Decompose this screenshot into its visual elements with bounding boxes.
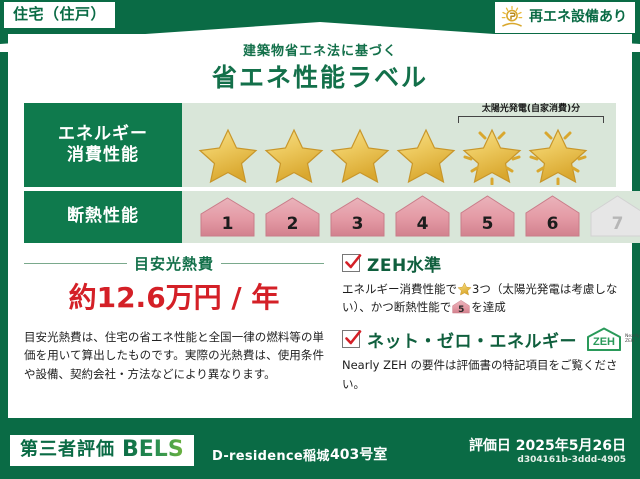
bels-logo-text: BELS — [122, 439, 184, 461]
lower-content: 目安光熱費 約12.6万円 / 年 目安光熱費は、住宅の省エネ性能と全国一律の燃… — [24, 251, 616, 419]
zeh-logo-subtext: Nearly ZEH — [625, 334, 640, 344]
utility-cost-note: 目安光熱費は、住宅の省エネ性能と全国一律の燃料等の単価を用いて算出したものです。… — [24, 328, 324, 384]
utility-cost-panel: 目安光熱費 約12.6万円 / 年 目安光熱費は、住宅の省エネ性能と全国一律の燃… — [24, 251, 330, 419]
inline-house-level: 5 — [451, 303, 471, 318]
title-block: 建築物省エネ法に基づく 省エネ性能ラベル — [10, 36, 630, 93]
house-icon-inline: 5 — [451, 299, 471, 315]
criteria-panel: ZEH水準 エネルギー消費性能で3つ（太陽光発電は考慮しない）、かつ断熱性能で5… — [330, 251, 640, 419]
energy-label-line1: エネルギー — [58, 124, 148, 145]
criterion-net-zero-energy-header: ネット・ゼロ・エネルギー ZEH Nearly ZEH — [342, 326, 640, 352]
house-icon-level-3: 3 — [326, 194, 389, 240]
energy-row-body: 太陽光発電(自家消費)分 — [182, 103, 616, 187]
building-name: D-residence稲城 — [212, 445, 330, 464]
criterion-zeh-standard: ZEH水準 エネルギー消費性能で3つ（太陽光発電は考慮しない）、かつ断熱性能で5… — [342, 251, 640, 317]
insulation-row-body: 1 2 3 4 — [182, 191, 640, 243]
energy-performance-label: 住宅（住戸） 再エネ — [0, 0, 640, 479]
star-icon — [394, 123, 458, 185]
utility-cost-value: 約12.6万円 / 年 — [24, 283, 324, 314]
check-icon — [342, 330, 360, 348]
house-icon-level-7-inactive: 7 — [586, 194, 640, 240]
divider-left — [24, 263, 127, 264]
title-main: 省エネ性能ラベル — [10, 62, 630, 93]
solar-bracket: 太陽光発電(自家消費)分 — [458, 105, 604, 123]
star-icon-solar — [460, 123, 524, 185]
solar-bracket-label: 太陽光発電(自家消費)分 — [458, 105, 604, 115]
footer-bar: 第三者評価 BELS D-residence稲城 403号室 評価日 2025年… — [0, 423, 640, 479]
desc-part1: エネルギー消費性能で — [342, 282, 457, 296]
criterion-zeh-standard-description: エネルギー消費性能で3つ（太陽光発電は考慮しない）、かつ断熱性能で5を達成 — [342, 280, 640, 317]
insulation-performance-row: 断熱性能 1 2 3 — [24, 191, 616, 243]
svg-text:ZEH: ZEH — [593, 336, 615, 348]
energy-star-rating — [182, 123, 590, 185]
desc-part2: 3つ（太陽光発電 — [472, 282, 560, 296]
utility-cost-heading: 目安光熱費 — [24, 253, 324, 274]
evaluation-id: d304161b-3ddd-4905 — [517, 455, 626, 465]
criterion-net-zero-energy-description: Nearly ZEH の要件は評価書の特記項目をご覧ください。 — [342, 356, 640, 393]
criterion-net-zero-energy-title: ネット・ゼロ・エネルギー — [367, 327, 577, 352]
criterion-zeh-standard-title: ZEH水準 — [367, 251, 442, 276]
check-icon — [342, 254, 360, 272]
insulation-label-text: 断熱性能 — [67, 206, 139, 227]
house-icon-level-6: 6 — [521, 194, 584, 240]
house-icon-level-2: 2 — [261, 194, 324, 240]
room-number: 403号室 — [330, 444, 387, 464]
zeh-sub-line2: ZEH — [625, 339, 634, 344]
star-icon — [262, 123, 326, 185]
title-subtitle: 建築物省エネ法に基づく — [10, 44, 630, 60]
insulation-level-scale: 1 2 3 4 — [182, 194, 640, 240]
criterion-net-zero-energy: ネット・ゼロ・エネルギー ZEH Nearly ZEH — [342, 326, 640, 393]
bels-badge: 第三者評価 BELS — [10, 435, 194, 466]
energy-row-label: エネルギー 消費性能 — [24, 103, 182, 187]
label-card: 建築物省エネ法に基づく 省エネ性能ラベル エネルギー 消費性能 太陽光発電(自家… — [8, 34, 632, 418]
evaluation-date: 評価日 2025年5月26日 — [469, 435, 626, 455]
star-icon-solar — [526, 123, 590, 185]
insulation-row-label: 断熱性能 — [24, 191, 182, 243]
star-icon — [328, 123, 392, 185]
zeh-logo-icon: ZEH Nearly ZEH — [584, 326, 640, 352]
star-icon — [196, 123, 260, 185]
house-icon-level-1: 1 — [196, 194, 259, 240]
energy-performance-row: エネルギー 消費性能 太陽光発電(自家消費)分 — [24, 103, 616, 187]
solar-bracket-line — [458, 116, 604, 123]
house-icon-level-4: 4 — [391, 194, 454, 240]
desc-part4: を達成 — [471, 300, 506, 314]
bels-japanese-label: 第三者評価 — [20, 441, 115, 459]
energy-label-line2: 消費性能 — [67, 145, 139, 166]
utility-cost-heading-text: 目安光熱費 — [134, 253, 214, 274]
divider-right — [221, 263, 324, 264]
performance-rows: エネルギー 消費性能 太陽光発電(自家消費)分 — [24, 103, 616, 243]
criterion-zeh-standard-header: ZEH水準 — [342, 251, 640, 276]
star-icon-inline — [457, 281, 472, 296]
house-icon-level-5: 5 — [456, 194, 519, 240]
